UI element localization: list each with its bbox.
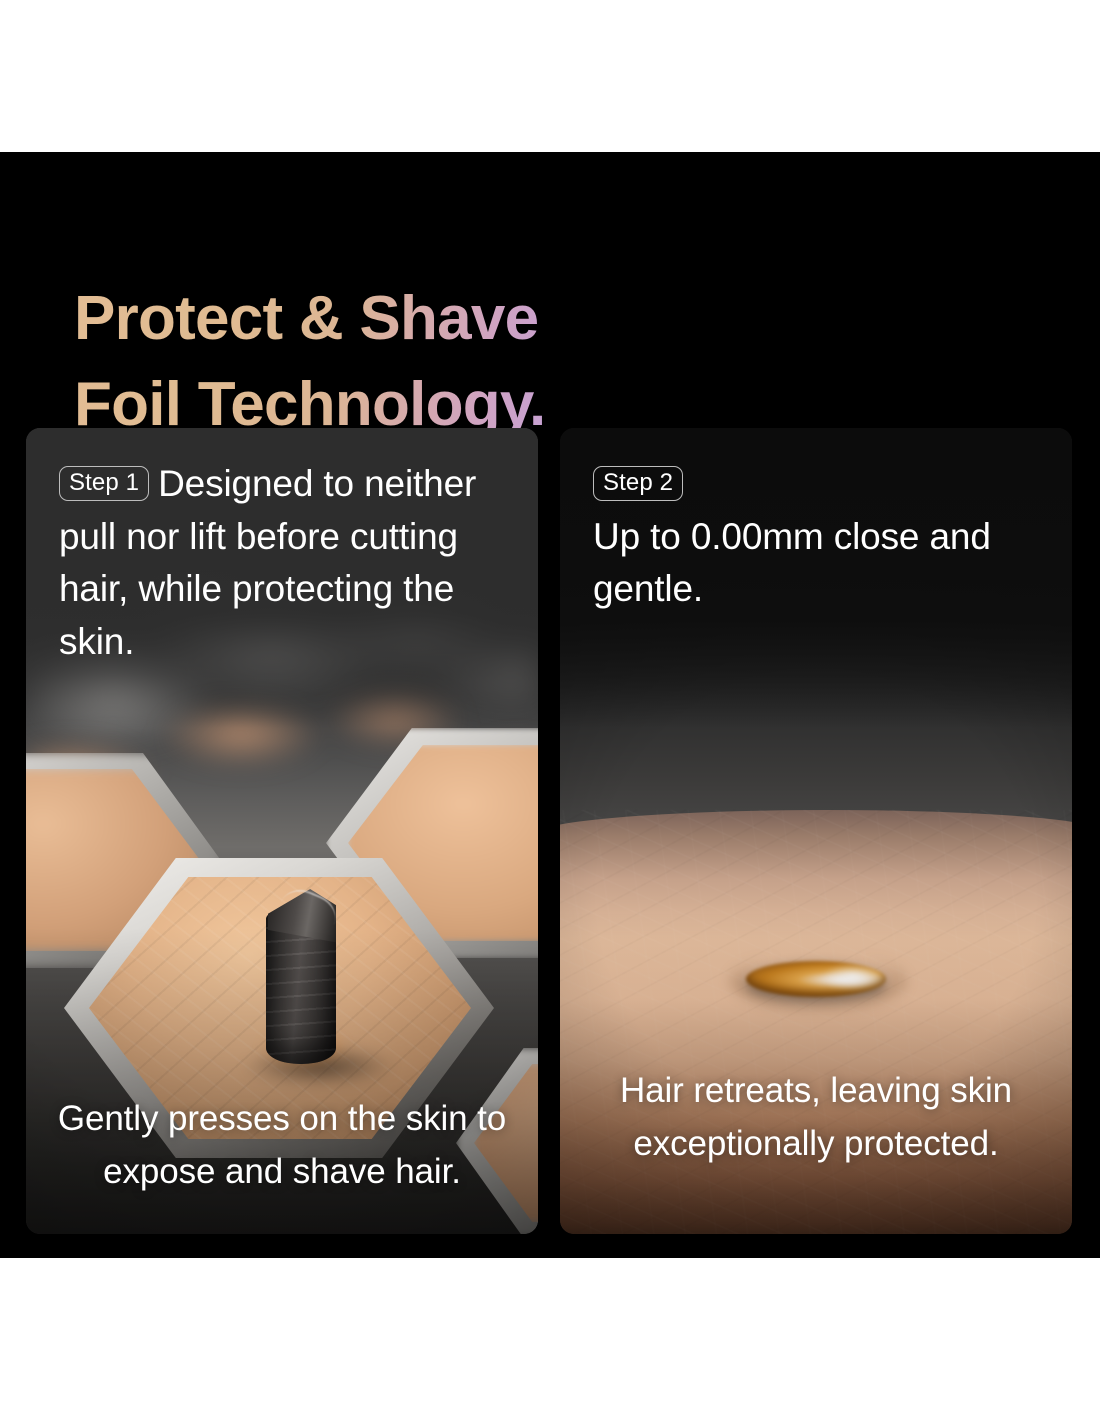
step-1-heading: Step 1Designed to neither pull nor lift … <box>59 458 508 668</box>
step-2-badge: Step 2 <box>593 466 683 501</box>
content-stage: Protect & Shave Foil Technology. <box>0 152 1100 1258</box>
step-2-header: Step 2 Up to 0.00mm close and gentle. <box>560 428 1072 616</box>
step-1-badge: Step 1 <box>59 466 149 501</box>
step-card-2[interactable]: Step 2 Up to 0.00mm close and gentle. Ha… <box>560 428 1072 1234</box>
step-1-caption: Gently presses on the skin to expose and… <box>26 1093 538 1198</box>
step-card-grid: Step 1Designed to neither pull nor lift … <box>26 428 1072 1234</box>
step-2-badge-row: Step 2 <box>593 458 1042 511</box>
page-title: Protect & Shave Foil Technology. <box>74 276 774 450</box>
step-1-header: Step 1Designed to neither pull nor lift … <box>26 428 538 668</box>
step-2-heading-text: Up to 0.00mm close and gentle. <box>593 511 1042 616</box>
step-2-caption: Hair retreats, leaving skin exceptionall… <box>560 1065 1072 1170</box>
promo-page: Protect & Shave Foil Technology. <box>0 0 1100 1422</box>
step-card-1[interactable]: Step 1Designed to neither pull nor lift … <box>26 428 538 1234</box>
